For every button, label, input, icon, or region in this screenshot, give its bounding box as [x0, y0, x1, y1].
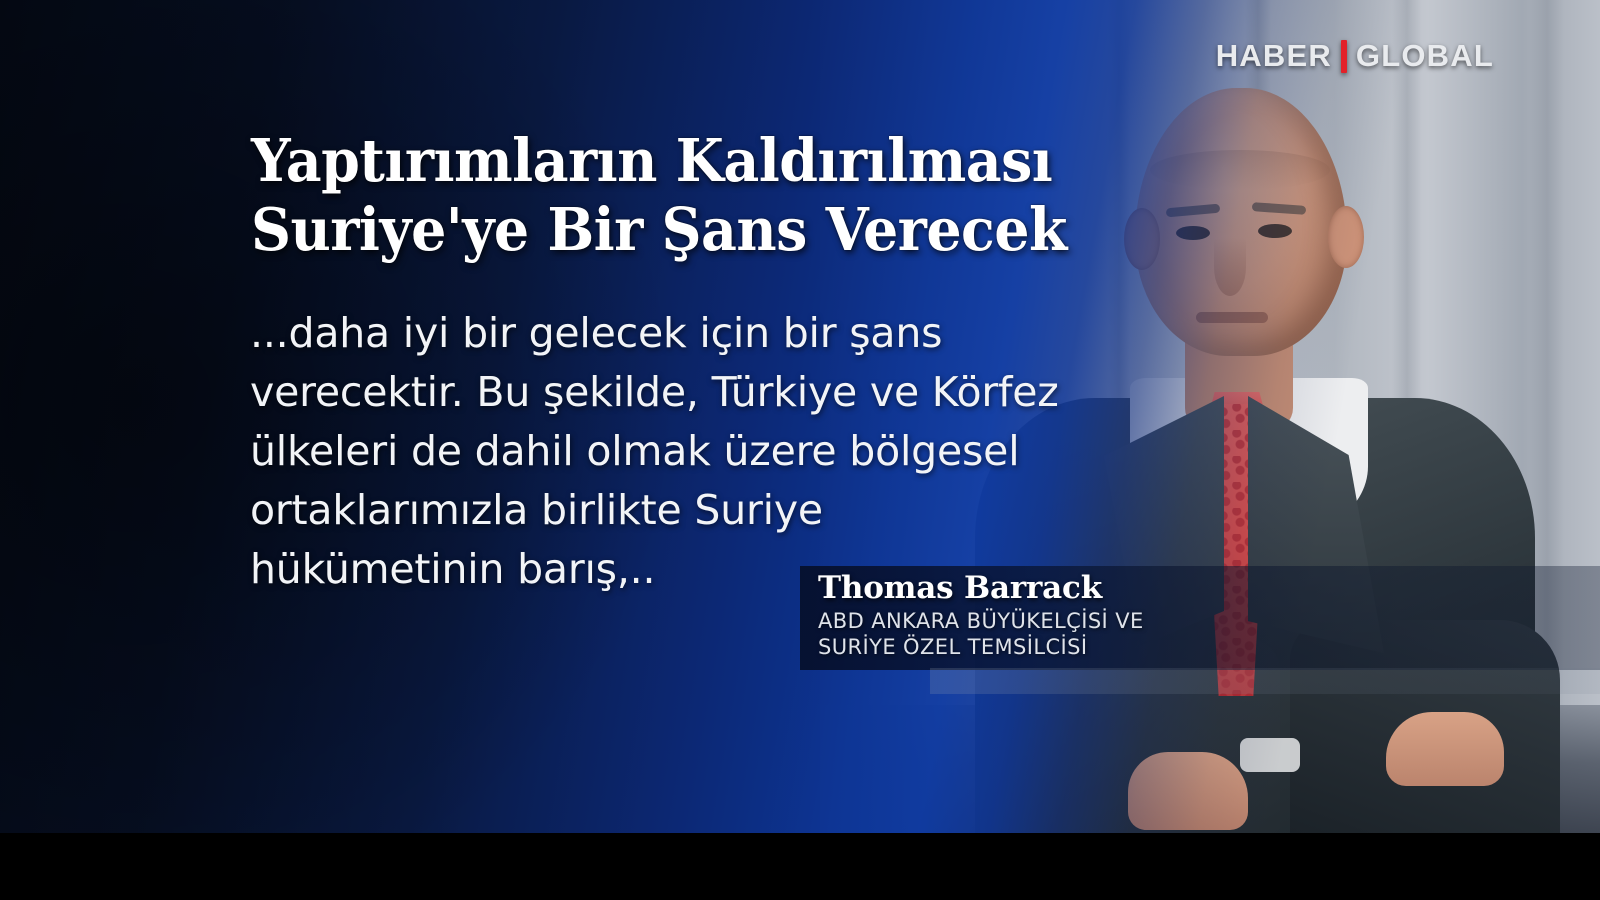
quote-line-2: verecektir. Bu şekilde, Türkiye ve Körfe… [250, 363, 1080, 422]
lower-third-subbar [930, 668, 1600, 694]
speaker-title: ABD ANKARA BÜYÜKELÇİSİ VE SURİYE ÖZEL TE… [818, 608, 1144, 660]
channel-name-first: HABER [1216, 38, 1332, 74]
speaker-title-line-1: ABD ANKARA BÜYÜKELÇİSİ VE [818, 608, 1144, 634]
quote-line-3: ülkeleri de dahil olmak üzere bölgesel [250, 422, 1080, 481]
quote-text: ...daha iyi bir gelecek için bir şans ve… [250, 304, 1080, 599]
headline-line-1: Yaptırımların Kaldırılması [251, 126, 1078, 195]
headline: Yaptırımların Kaldırılması Suriye'ye Bir… [251, 126, 1078, 264]
broadcast-screenshot: HABER GLOBAL Yaptırımların Kaldırılması … [0, 0, 1600, 900]
quote-line-4: ortaklarımızla birlikte Suriye [250, 481, 1080, 540]
channel-logo: HABER GLOBAL [1216, 38, 1494, 74]
letterbox-bar [0, 833, 1600, 900]
logo-divider-icon [1341, 40, 1347, 73]
video-frame: HABER GLOBAL Yaptırımların Kaldırılması … [0, 0, 1600, 833]
speaker-title-line-2: SURİYE ÖZEL TEMSİLCİSİ [818, 634, 1144, 660]
quote-line-1: ...daha iyi bir gelecek için bir şans [250, 304, 1080, 363]
channel-name-second: GLOBAL [1356, 38, 1494, 74]
speaker-name: Thomas Barrack [818, 570, 1102, 606]
headline-line-2: Suriye'ye Bir Şans Verecek [251, 195, 1078, 264]
